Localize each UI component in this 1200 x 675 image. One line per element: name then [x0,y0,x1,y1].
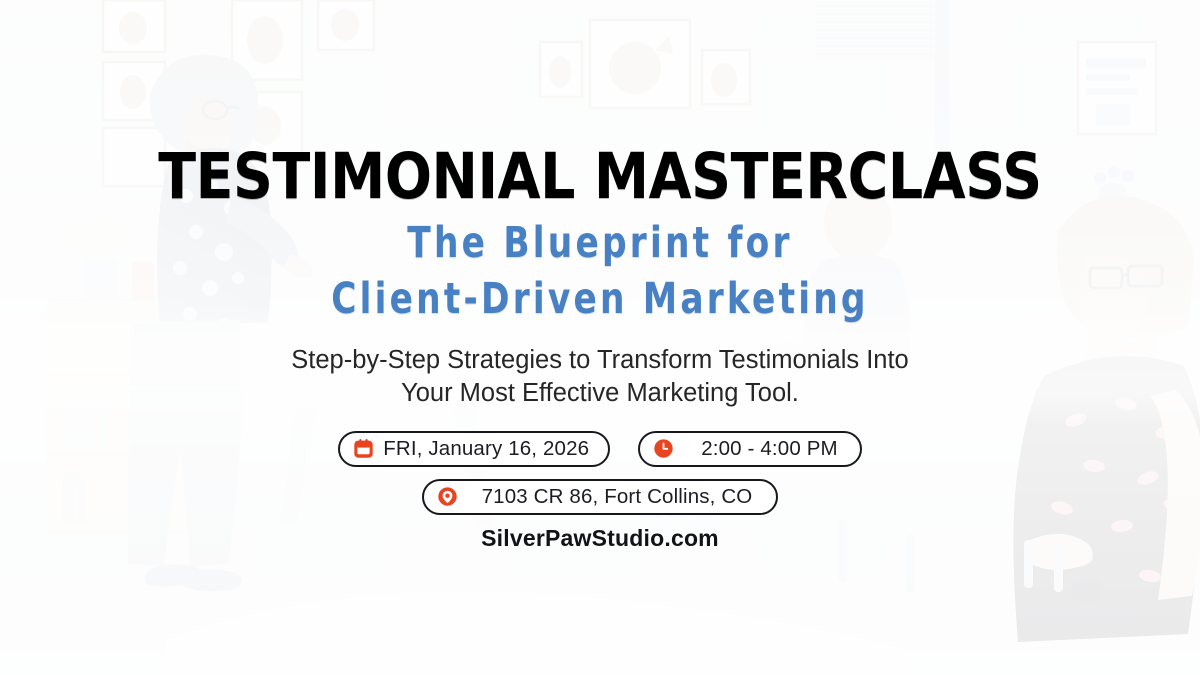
event-subtitle-line-2: Client-Driven Marketing [331,274,869,324]
event-location-pill[interactable]: 7103 CR 86, Fort Collins, CO [422,479,779,515]
website-url[interactable]: SilverPawStudio.com [481,525,719,552]
calendar-icon [353,438,374,459]
event-title: TESTIMONIAL MASTERCLASS [158,146,1041,208]
banner-content: TESTIMONIAL MASTERCLASS The Blueprint fo… [0,0,1200,675]
date-time-row: FRI, January 16, 2026 2:00 - 4:00 PM [338,431,862,467]
event-description: Step-by-Step Strategies to Transform Tes… [291,344,908,410]
event-date-text: FRI, January 16, 2026 [383,437,589,461]
event-subtitle-line-1: The Blueprint for [407,218,792,268]
event-time-pill[interactable]: 2:00 - 4:00 PM [638,431,862,467]
event-time-text: 2:00 - 4:00 PM [701,437,838,461]
event-description-line-2: Your Most Effective Marketing Tool. [401,379,799,407]
event-location-text: 7103 CR 86, Fort Collins, CO [482,485,753,509]
event-banner: TESTIMONIAL MASTERCLASS The Blueprint fo… [0,0,1200,675]
clock-icon [653,438,674,459]
event-description-line-1: Step-by-Step Strategies to Transform Tes… [291,346,908,374]
event-date-pill[interactable]: FRI, January 16, 2026 [338,431,610,467]
location-row: 7103 CR 86, Fort Collins, CO [422,479,779,515]
map-pin-icon [437,486,458,507]
event-subtitle: The Blueprint for Client-Driven Marketin… [331,215,869,329]
